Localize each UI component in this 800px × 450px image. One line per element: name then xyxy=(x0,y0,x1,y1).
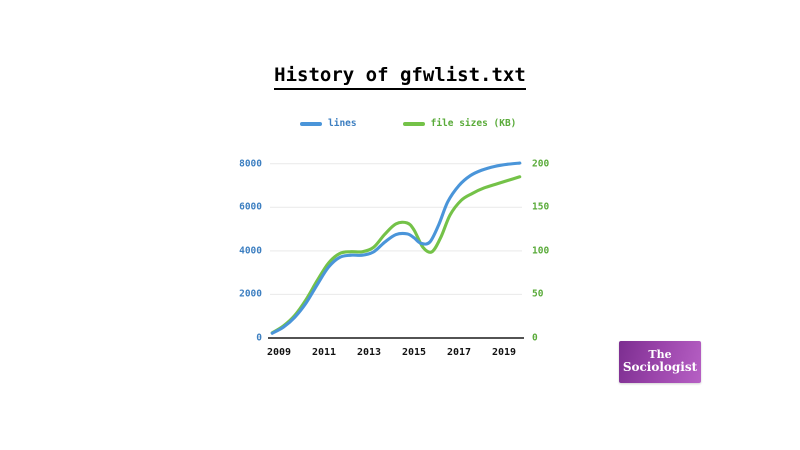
y-axis-right-tick: 0 xyxy=(532,333,538,344)
x-axis-tick: 2009 xyxy=(267,347,291,358)
x-axis-tick: 2013 xyxy=(357,347,381,358)
x-axis-tick: 2015 xyxy=(402,347,426,358)
chart-title-text: History of gfwlist.txt xyxy=(274,64,526,90)
y-axis-right-tick: 50 xyxy=(532,289,543,300)
y-axis-left-tick: 4000 xyxy=(239,245,262,256)
page-title: History of gfwlist.txt xyxy=(0,64,800,86)
legend-item-lines[interactable]: lines xyxy=(300,118,357,129)
y-axis-left-tick: 8000 xyxy=(239,158,262,169)
logo-line-2: Sociologist xyxy=(623,361,697,374)
legend-item-file-sizes[interactable]: file sizes (KB) xyxy=(403,118,517,129)
y-axis-right-tick: 200 xyxy=(532,158,549,169)
x-axis-tick: 2019 xyxy=(492,347,516,358)
chart-page: History of gfwlist.txt lines file sizes … xyxy=(0,0,800,450)
series-line-file-sizes xyxy=(272,177,520,333)
logo-badge[interactable]: The Sociologist xyxy=(619,341,701,383)
y-axis-left-tick: 6000 xyxy=(239,202,262,213)
chart-legend: lines file sizes (KB) xyxy=(300,118,540,129)
y-axis-left-tick: 0 xyxy=(256,333,262,344)
plot-area: 0200040006000800005010015020020092011201… xyxy=(230,148,560,348)
legend-swatch-lines xyxy=(300,122,322,126)
x-axis-tick: 2011 xyxy=(312,347,336,358)
legend-label-file-sizes: file sizes (KB) xyxy=(431,118,517,129)
legend-swatch-file-sizes xyxy=(403,122,425,126)
y-axis-left-tick: 2000 xyxy=(239,289,262,300)
x-axis-tick: 2017 xyxy=(447,347,471,358)
y-axis-right-tick: 100 xyxy=(532,245,549,256)
y-axis-right-tick: 150 xyxy=(532,202,549,213)
chart-canvas xyxy=(230,148,560,348)
legend-label-lines: lines xyxy=(328,118,357,129)
